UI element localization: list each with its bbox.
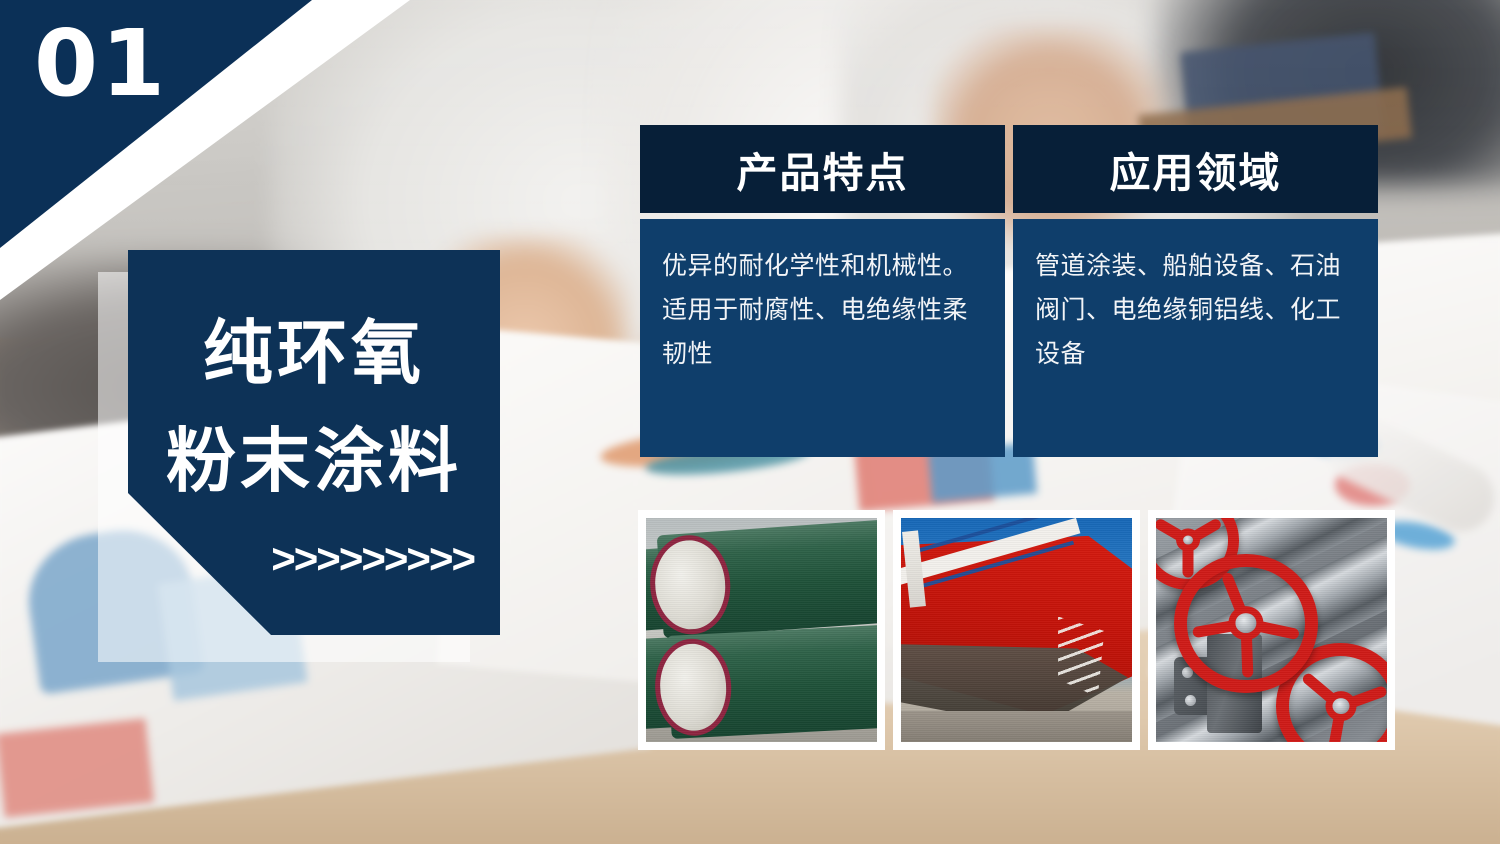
ship-drydock-ground <box>901 711 1132 742</box>
flange-bolt <box>1185 695 1196 706</box>
valve-handwheel-main <box>1174 554 1317 693</box>
pipe-foreground-upper <box>657 519 877 639</box>
panel-header-application-fields: 应用领域 <box>1013 125 1378 213</box>
thumbnail-image <box>1156 518 1387 742</box>
valves-scene <box>1156 518 1387 742</box>
handwheel-hub-nut <box>1325 691 1356 721</box>
thumbnail-image <box>646 518 877 742</box>
pipe-end-cap <box>646 555 648 629</box>
presentation-slide: 01 纯环氧 粉末涂料 >>>>>>>>> 产品特点 优异的耐化学性和机械性。适… <box>0 0 1500 844</box>
handwheel-hub-nut <box>1176 529 1200 552</box>
thumbnail-ship-hull-coating <box>893 510 1140 750</box>
panel-header-title: 应用领域 <box>1110 139 1282 199</box>
panel-application-fields: 应用领域 管道涂装、船舶设备、石油阀门、电绝缘铜铝线、化工设备 <box>1013 125 1378 457</box>
panel-body-product-features: 优异的耐化学性和机械性。适用于耐腐性、电绝缘性柔韧性 <box>640 219 1005 457</box>
section-number: 01 <box>34 18 168 110</box>
handwheel-hub-nut <box>1229 606 1264 640</box>
pipes-scene <box>646 518 877 742</box>
thumbnail-image <box>901 518 1132 742</box>
panel-body-text: 优异的耐化学性和机械性。适用于耐腐性、电绝缘性柔韧性 <box>662 245 983 376</box>
panel-body-application-fields: 管道涂装、船舶设备、石油阀门、电绝缘铜铝线、化工设备 <box>1013 219 1378 457</box>
title-line-1: 纯环氧 <box>128 318 500 388</box>
panel-header-product-features: 产品特点 <box>640 125 1005 213</box>
ship-scene <box>901 518 1132 742</box>
panel-product-features: 产品特点 优异的耐化学性和机械性。适用于耐腐性、电绝缘性柔韧性 <box>640 125 1005 457</box>
thumbnail-valve-handwheels <box>1148 510 1395 750</box>
panel-header-title: 产品特点 <box>737 139 909 199</box>
title-line-2: 粉末涂料 <box>128 426 500 496</box>
panel-body-text: 管道涂装、船舶设备、石油阀门、电绝缘铜铝线、化工设备 <box>1035 245 1356 376</box>
pipe-foreground-lower <box>667 624 877 739</box>
thumbnail-coated-steel-pipes <box>638 510 885 750</box>
